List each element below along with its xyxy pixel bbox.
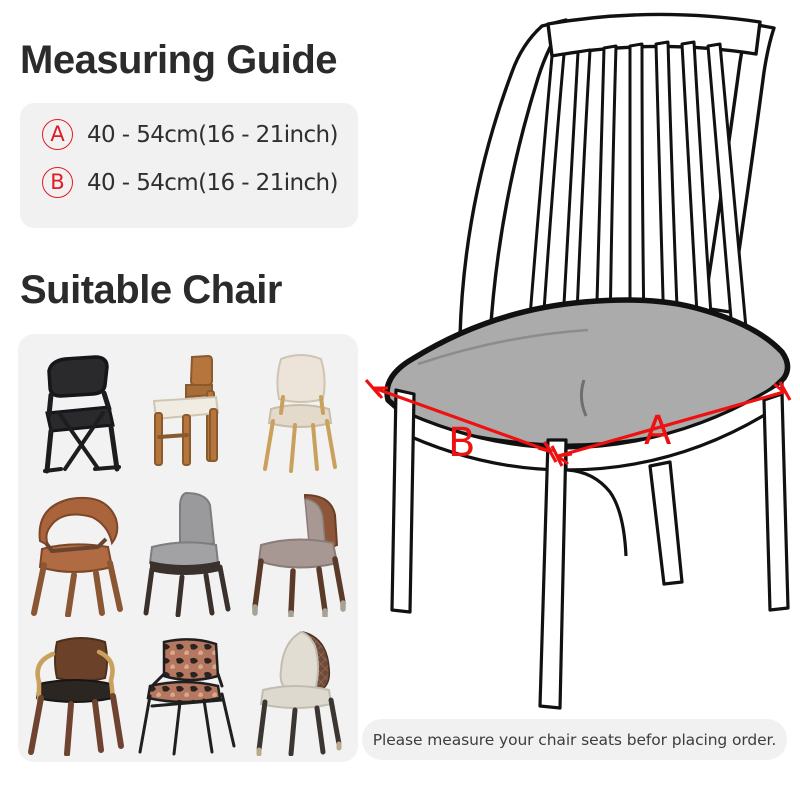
dimension-row-a: A 40 - 54cm(16 - 21inch) bbox=[42, 119, 338, 150]
page-title-measuring-guide: Measuring Guide bbox=[20, 38, 337, 83]
chair-line-drawing: B A bbox=[352, 0, 800, 730]
grey-upholstered-chair-icon bbox=[138, 489, 238, 617]
brown-grey-two-tone-chair-icon bbox=[247, 489, 351, 617]
chair-thumb-wood-chair-gold-arms bbox=[22, 617, 133, 756]
patterned-metal-leg-chair-icon bbox=[134, 628, 242, 756]
label-b: B bbox=[448, 420, 475, 466]
chair-thumb-grey-upholstered-chair bbox=[133, 479, 244, 618]
dimension-row-b: B 40 - 54cm(16 - 21inch) bbox=[42, 167, 338, 198]
chair-measurement-illustration: B A bbox=[352, 0, 800, 730]
wood-chair-white-seat-icon bbox=[138, 351, 238, 479]
dimension-value-b: 40 - 54cm(16 - 21inch) bbox=[87, 170, 338, 196]
chair-thumb-brown-leather-armchair bbox=[22, 479, 133, 618]
black-folding-chair-icon bbox=[25, 351, 130, 479]
chair-thumb-wood-chair-white-seat bbox=[133, 340, 244, 479]
measure-note-banner: Please measure your chair seats befor pl… bbox=[362, 719, 787, 760]
chair-thumb-cream-chair-gold-legs bbox=[243, 340, 354, 479]
suitable-chair-panel bbox=[18, 334, 358, 762]
chair-thumbnail-grid bbox=[22, 340, 354, 756]
chair-thumb-black-folding-chair bbox=[22, 340, 133, 479]
chair-thumb-brown-grey-two-tone-chair bbox=[243, 479, 354, 618]
label-a: A bbox=[644, 408, 672, 454]
badge-b-icon: B bbox=[42, 167, 73, 198]
chair-thumb-cream-quilted-back-chair bbox=[243, 617, 354, 756]
section-title-suitable-chair: Suitable Chair bbox=[20, 268, 282, 313]
measure-note-text: Please measure your chair seats befor pl… bbox=[373, 731, 776, 749]
brown-leather-armchair-icon bbox=[22, 489, 132, 617]
badge-a-icon: A bbox=[42, 119, 73, 150]
cream-quilted-back-chair-icon bbox=[249, 628, 349, 756]
dimension-value-a: 40 - 54cm(16 - 21inch) bbox=[87, 122, 338, 148]
product-infographic: Measuring Guide A 40 - 54cm(16 - 21inch)… bbox=[0, 0, 800, 800]
wood-chair-gold-arms-icon bbox=[23, 628, 131, 756]
cream-chair-gold-legs-icon bbox=[251, 351, 347, 479]
measuring-guide-box: A 40 - 54cm(16 - 21inch) B 40 - 54cm(16 … bbox=[20, 103, 358, 228]
chair-thumb-patterned-metal-leg-chair bbox=[133, 617, 244, 756]
